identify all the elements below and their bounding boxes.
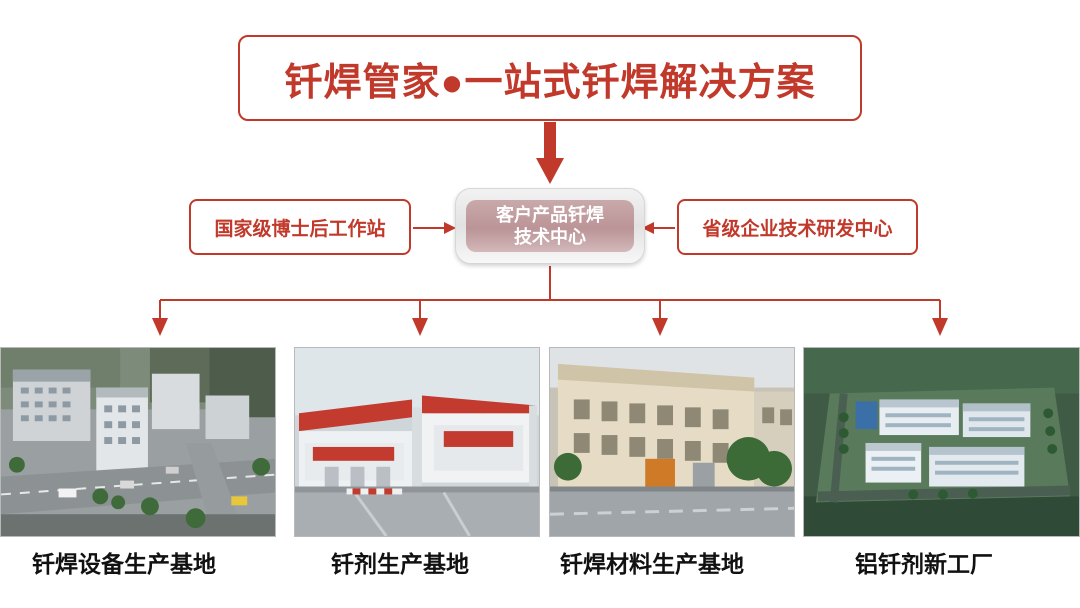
photo-caption-1: 钎焊设备生产基地	[32, 545, 216, 579]
center-node-fill: 客户产品钎焊 技术中心	[466, 200, 634, 252]
photo-equipment-base	[0, 347, 276, 537]
center-node-line1: 客户产品钎焊	[496, 205, 604, 225]
photo-caption-2: 钎剂生产基地	[331, 545, 469, 579]
diagram-canvas: 钎焊管家●一站式钎焊解决方案 客户产品钎焊 技术中心	[0, 0, 1080, 608]
center-node-line2: 技术中心	[514, 227, 586, 247]
photo-caption-4: 铝钎剂新工厂	[855, 545, 993, 579]
factory-gate-image	[295, 348, 539, 536]
center-node-label: 客户产品钎焊 技术中心	[475, 204, 625, 249]
plant-rendering-image	[804, 348, 1079, 536]
aerial-campus-image	[1, 348, 275, 536]
photo-material-base	[549, 347, 795, 537]
center-node: 客户产品钎焊 技术中心	[455, 188, 645, 264]
node-postdoc-workstation-label: 国家级博士后工作站	[214, 214, 385, 241]
page-title: 钎焊管家●一站式钎焊解决方案	[285, 51, 816, 106]
down-arrow-icon	[536, 122, 564, 184]
node-postdoc-workstation: 国家级博士后工作站	[189, 199, 411, 255]
title-box: 钎焊管家●一站式钎焊解决方案	[238, 35, 862, 121]
photo-flux-base	[294, 347, 540, 537]
node-provincial-rd-center: 省级企业技术研发中心	[677, 199, 918, 255]
node-provincial-rd-center-label: 省级企业技术研发中心	[702, 214, 892, 241]
photo-new-plant	[803, 347, 1080, 537]
photo-row	[0, 347, 1080, 537]
photo-caption-3: 钎焊材料生产基地	[560, 545, 744, 579]
beige-factory-image	[550, 348, 794, 536]
